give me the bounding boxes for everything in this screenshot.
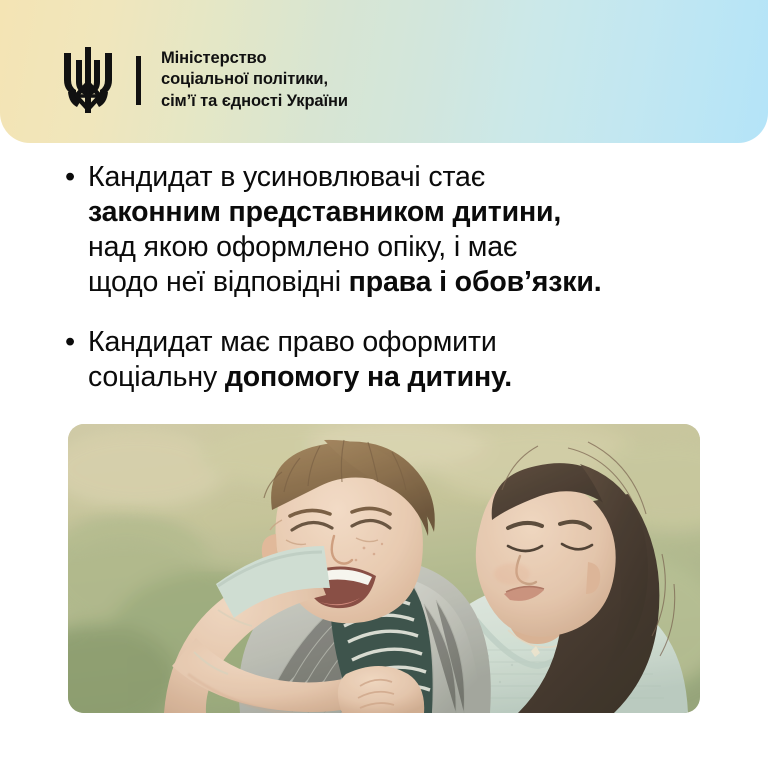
ministry-name: Міністерство соціальної політики, сім’ї … xyxy=(161,48,348,112)
bullet-1-line-2-bold: законним представником дитини, xyxy=(88,196,561,228)
vertical-divider-icon xyxy=(136,56,141,105)
bullet-2-text: Кандидат має право оформити соціальну до… xyxy=(88,325,728,395)
ministry-name-line-2: соціальної політики, xyxy=(161,69,348,90)
ministry-name-line-3: сім’ї та єдності України xyxy=(161,91,348,112)
ministry-name-line-1: Міністерство xyxy=(161,48,348,69)
bullet-2-line-2-bold: допомогу на дитину. xyxy=(225,361,512,393)
photo-illustration xyxy=(68,424,700,713)
ukraine-tryzub-emblem-icon xyxy=(62,47,114,113)
bullet-1-line-1: Кандидат в усиновлювачі стає xyxy=(88,160,728,195)
bullet-2-line-2-normal: соціальну xyxy=(88,361,225,393)
bullet-2-line-2: соціальну допомогу на дитину. xyxy=(88,360,728,395)
header-gradient-band: Міністерство соціальної політики, сім’ї … xyxy=(0,0,768,143)
bullet-2-line-1-normal: Кандидат має право оформити xyxy=(88,326,497,358)
bullet-1-line-3: над якою оформлено опіку, і має xyxy=(88,230,728,265)
infographic-card: Міністерство соціальної політики, сім’ї … xyxy=(0,0,768,768)
bullet-1-line-1-normal: Кандидат в усиновлювачі стає xyxy=(88,161,485,193)
list-item: • Кандидат має право оформити соціальну … xyxy=(0,325,768,395)
bullet-marker-icon: • xyxy=(62,160,88,195)
list-item: • Кандидат в усиновлювачі стає законним … xyxy=(0,160,768,300)
bullet-1-text: Кандидат в усиновлювачі стає законним пр… xyxy=(88,160,728,300)
photo-boy-laughing-with-woman-outdoors xyxy=(68,424,700,713)
body-content: • Кандидат в усиновлювачі стає законним … xyxy=(0,160,768,395)
bullet-2-line-1: Кандидат має право оформити xyxy=(88,325,728,360)
bullet-marker-icon: • xyxy=(62,325,88,360)
bullet-1-line-4-normal: щодо неї відповідні xyxy=(88,266,349,298)
bullet-1-line-4-bold: права і обов’язки. xyxy=(349,266,602,298)
bullet-1-line-3-normal: над якою оформлено опіку, і має xyxy=(88,231,517,263)
bullet-1-line-2: законним представником дитини, xyxy=(88,195,728,230)
ministry-logo-lockup: Міністерство соціальної політики, сім’ї … xyxy=(62,47,348,113)
bullet-1-line-4: щодо неї відповідні права і обов’язки. xyxy=(88,265,728,300)
